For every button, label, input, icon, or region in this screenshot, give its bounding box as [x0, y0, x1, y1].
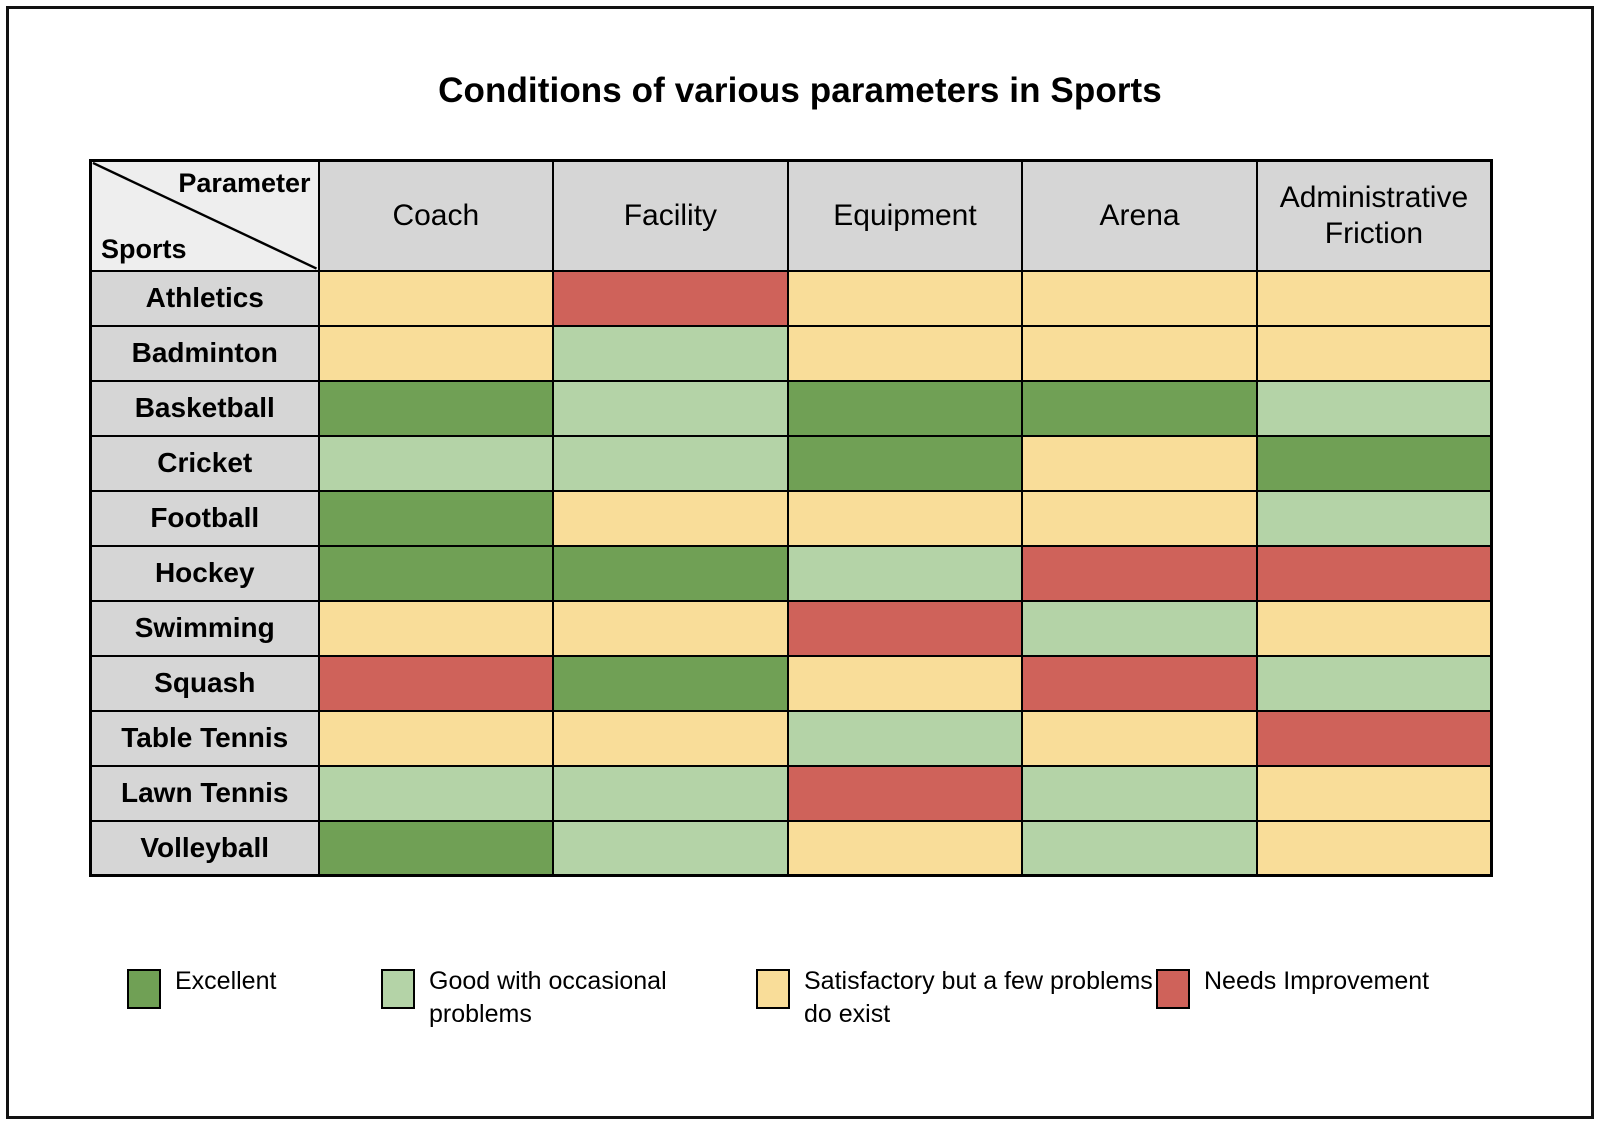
cell-volleyball-arena — [1022, 821, 1257, 876]
cell-cricket-coach — [319, 436, 554, 491]
cell-badminton-arena — [1022, 326, 1257, 381]
table-row: Squash — [91, 656, 1492, 711]
cell-lawn-tennis-coach — [319, 766, 554, 821]
legend-item-good: Good with occasional problems — [381, 957, 756, 1031]
cell-hockey-administrative-friction — [1257, 546, 1492, 601]
cell-badminton-coach — [319, 326, 554, 381]
cell-football-arena — [1022, 491, 1257, 546]
legend-label-needs-improvement: Needs Improvement — [1204, 957, 1429, 998]
table-row: Cricket — [91, 436, 1492, 491]
cell-basketball-administrative-friction — [1257, 381, 1492, 436]
cell-football-facility — [553, 491, 788, 546]
table-row: Swimming — [91, 601, 1492, 656]
row-header-swimming: Swimming — [91, 601, 319, 656]
cell-lawn-tennis-administrative-friction — [1257, 766, 1492, 821]
cell-swimming-equipment — [788, 601, 1023, 656]
row-header-lawn-tennis: Lawn Tennis — [91, 766, 319, 821]
legend-label-excellent: Excellent — [175, 957, 276, 998]
cell-basketball-arena — [1022, 381, 1257, 436]
cell-table-tennis-facility — [553, 711, 788, 766]
legend-item-excellent: Excellent — [89, 957, 381, 1009]
cell-badminton-facility — [553, 326, 788, 381]
legend-swatch-good — [381, 969, 415, 1009]
cell-swimming-facility — [553, 601, 788, 656]
column-header-coach: Coach — [319, 161, 554, 271]
cell-squash-administrative-friction — [1257, 656, 1492, 711]
cell-volleyball-coach — [319, 821, 554, 876]
cell-football-equipment — [788, 491, 1023, 546]
cell-lawn-tennis-arena — [1022, 766, 1257, 821]
cell-football-coach — [319, 491, 554, 546]
row-header-volleyball: Volleyball — [91, 821, 319, 876]
cell-basketball-equipment — [788, 381, 1023, 436]
cell-swimming-administrative-friction — [1257, 601, 1492, 656]
cell-basketball-coach — [319, 381, 554, 436]
corner-header-cell: Parameter Sports — [91, 161, 319, 271]
cell-cricket-administrative-friction — [1257, 436, 1492, 491]
column-header-arena: Arena — [1022, 161, 1257, 271]
cell-hockey-facility — [553, 546, 788, 601]
cell-hockey-equipment — [788, 546, 1023, 601]
cell-squash-facility — [553, 656, 788, 711]
cell-swimming-coach — [319, 601, 554, 656]
legend-item-satisfactory: Satisfactory but a few problems do exist — [756, 957, 1156, 1031]
row-header-basketball: Basketball — [91, 381, 319, 436]
cell-athletics-facility — [553, 271, 788, 326]
cell-table-tennis-administrative-friction — [1257, 711, 1492, 766]
table-row: Basketball — [91, 381, 1492, 436]
cell-cricket-arena — [1022, 436, 1257, 491]
cell-athletics-equipment — [788, 271, 1023, 326]
legend-swatch-satisfactory — [756, 969, 790, 1009]
cell-hockey-coach — [319, 546, 554, 601]
table-row: Table Tennis — [91, 711, 1492, 766]
cell-lawn-tennis-facility — [553, 766, 788, 821]
legend-label-satisfactory: Satisfactory but a few problems do exist — [804, 957, 1156, 1031]
legend: Excellent Good with occasional problems … — [89, 957, 1499, 1031]
matrix-header-row: Parameter Sports Coach Facility Equipmen… — [91, 161, 1492, 271]
cell-badminton-equipment — [788, 326, 1023, 381]
cell-squash-arena — [1022, 656, 1257, 711]
row-header-football: Football — [91, 491, 319, 546]
row-header-badminton: Badminton — [91, 326, 319, 381]
cell-volleyball-administrative-friction — [1257, 821, 1492, 876]
row-header-table-tennis: Table Tennis — [91, 711, 319, 766]
row-header-hockey: Hockey — [91, 546, 319, 601]
cell-lawn-tennis-equipment — [788, 766, 1023, 821]
legend-item-needs-improvement: Needs Improvement — [1156, 957, 1456, 1009]
cell-football-administrative-friction — [1257, 491, 1492, 546]
cell-squash-coach — [319, 656, 554, 711]
figure-frame: Conditions of various parameters in Spor… — [6, 6, 1594, 1119]
corner-sports-label: Sports — [101, 234, 187, 264]
legend-label-good: Good with occasional problems — [429, 957, 756, 1031]
table-row: Lawn Tennis — [91, 766, 1492, 821]
cell-cricket-equipment — [788, 436, 1023, 491]
cell-athletics-arena — [1022, 271, 1257, 326]
legend-swatch-excellent — [127, 969, 161, 1009]
table-row: Football — [91, 491, 1492, 546]
row-header-athletics: Athletics — [91, 271, 319, 326]
cell-table-tennis-equipment — [788, 711, 1023, 766]
cell-hockey-arena — [1022, 546, 1257, 601]
column-header-administrative-friction: Administrative Friction — [1257, 161, 1492, 271]
table-row: Athletics — [91, 271, 1492, 326]
cell-swimming-arena — [1022, 601, 1257, 656]
table-row: Badminton — [91, 326, 1492, 381]
row-header-cricket: Cricket — [91, 436, 319, 491]
row-header-squash: Squash — [91, 656, 319, 711]
table-row: Hockey — [91, 546, 1492, 601]
table-row: Volleyball — [91, 821, 1492, 876]
cell-cricket-facility — [553, 436, 788, 491]
cell-volleyball-facility — [553, 821, 788, 876]
column-header-equipment: Equipment — [788, 161, 1023, 271]
chart-title: Conditions of various parameters in Spor… — [9, 71, 1591, 111]
column-header-facility: Facility — [553, 161, 788, 271]
matrix-body: AthleticsBadmintonBasketballCricketFootb… — [91, 271, 1492, 876]
cell-table-tennis-coach — [319, 711, 554, 766]
legend-swatch-needs-improvement — [1156, 969, 1190, 1009]
cell-badminton-administrative-friction — [1257, 326, 1492, 381]
cell-athletics-coach — [319, 271, 554, 326]
cell-squash-equipment — [788, 656, 1023, 711]
cell-basketball-facility — [553, 381, 788, 436]
cell-volleyball-equipment — [788, 821, 1023, 876]
cell-table-tennis-arena — [1022, 711, 1257, 766]
conditions-matrix: Parameter Sports Coach Facility Equipmen… — [89, 159, 1493, 877]
cell-athletics-administrative-friction — [1257, 271, 1492, 326]
corner-parameter-label: Parameter — [178, 168, 310, 198]
